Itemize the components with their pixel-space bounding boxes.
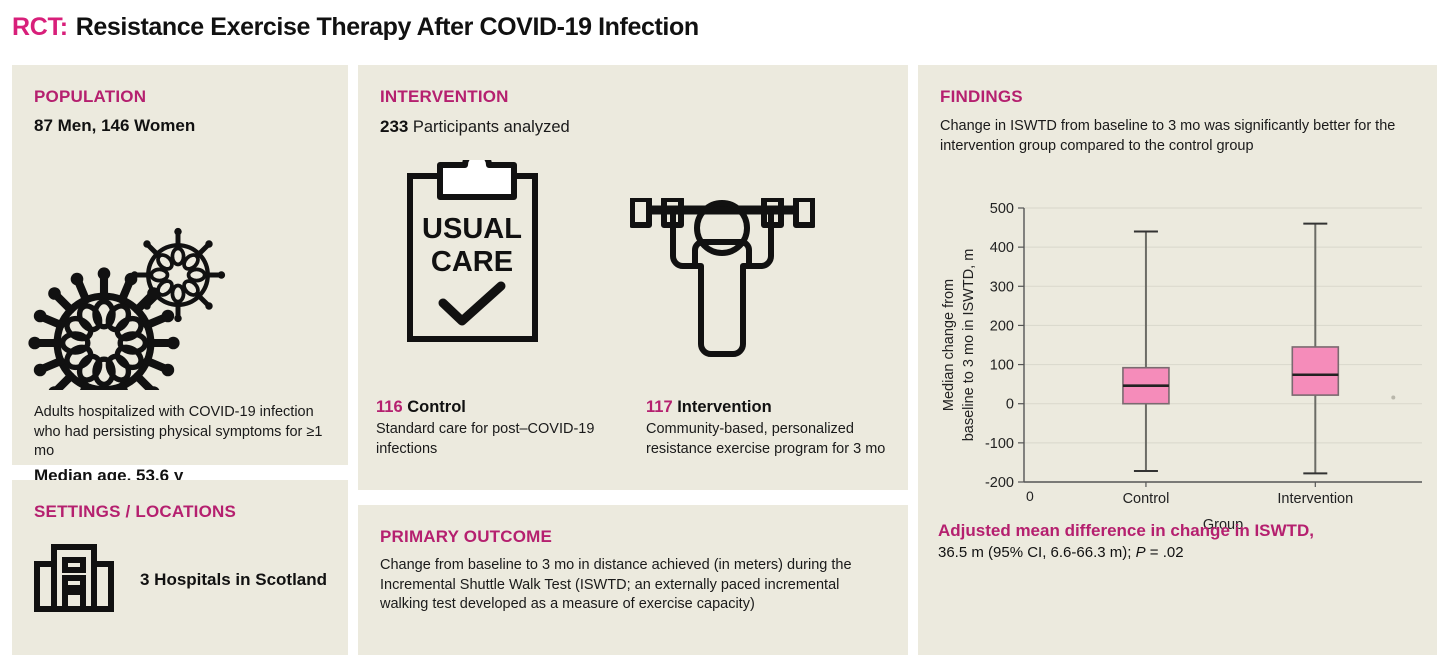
hospital-building-icon xyxy=(34,540,114,620)
page-header: RCT: Resistance Exercise Therapy After C… xyxy=(12,4,1432,50)
weightlifting-person-icon xyxy=(572,160,872,400)
participants-number: 233 xyxy=(380,117,408,136)
svg-text:USUAL: USUAL xyxy=(422,213,522,245)
x-tick-label: Control xyxy=(1123,491,1170,507)
primary-outcome-panel: PRIMARY OUTCOME Change from baseline to … xyxy=(358,505,908,655)
page-title: Resistance Exercise Therapy After COVID-… xyxy=(76,13,699,42)
clipboard-check-icon: USUAL CARE xyxy=(372,160,572,400)
intervention-heading: INTERVENTION xyxy=(380,87,886,107)
settings-panel: SETTINGS / LOCATIONS 3 Hospitals in Scot… xyxy=(12,480,348,655)
y-tick-label: 300 xyxy=(990,279,1014,295)
y-axis-title: baseline to 3 mo in ISWTD, m xyxy=(961,249,977,442)
findings-panel: FINDINGS Change in ISWTD from baseline t… xyxy=(918,65,1437,655)
participants-label: Participants analyzed xyxy=(413,118,570,136)
y-tick-label: 100 xyxy=(990,358,1014,374)
settings-row: 3 Hospitals in Scotland xyxy=(34,540,327,620)
y-tick-label: -100 xyxy=(985,436,1014,452)
study-type-tag: RCT: xyxy=(12,13,68,42)
findings-heading: FINDINGS xyxy=(940,87,1415,107)
result-p-value: = .02 xyxy=(1146,544,1184,561)
y-tick-label: 500 xyxy=(990,201,1014,217)
arm-control-description: Standard care for post–COVID-19 infectio… xyxy=(376,420,624,459)
result-heading: Adjusted mean difference in change in IS… xyxy=(938,520,1418,541)
coronavirus-icon xyxy=(26,175,236,390)
population-heading: POPULATION xyxy=(34,87,326,107)
primary-outcome-text: Change from baseline to 3 mo in distance… xyxy=(380,556,885,615)
y-tick-label: -200 xyxy=(985,475,1014,491)
result-value: 36.5 m (95% CI, 6.6-66.3 m); P = .02 xyxy=(938,544,1418,561)
arm-control-number: 116 xyxy=(376,398,403,416)
boxplot-control: Control xyxy=(1123,231,1170,507)
participants-line: 233 Participants analyzed xyxy=(380,116,886,138)
population-description: Adults hospitalized with COVID-19 infect… xyxy=(34,403,330,462)
settings-heading: SETTINGS / LOCATIONS xyxy=(34,502,326,522)
boxplot-svg: 5004003002001000-100-200Median change fr… xyxy=(932,190,1432,560)
y-axis-title: Median change from xyxy=(941,279,957,411)
population-panel: POPULATION 87 Men, 146 Women xyxy=(12,65,348,465)
result-value-text: 36.5 m (95% CI, 6.6-66.3 m); xyxy=(938,544,1136,561)
settings-label: 3 Hospitals in Scotland xyxy=(140,569,327,590)
y-tick-label: 200 xyxy=(990,318,1014,334)
intervention-icons: USUAL CARE xyxy=(372,160,892,400)
primary-outcome-heading: PRIMARY OUTCOME xyxy=(380,527,886,547)
x-origin-label: 0 xyxy=(1026,488,1034,504)
infographic-page: RCT: Resistance Exercise Therapy After C… xyxy=(0,0,1449,655)
population-counts: 87 Men, 146 Women xyxy=(34,116,326,136)
arm-control: 116 Control Standard care for post–COVID… xyxy=(376,398,624,459)
y-tick-label: 400 xyxy=(990,240,1014,256)
boxplot-intervention: Intervention xyxy=(1277,224,1395,507)
population-description-block: Adults hospitalized with COVID-19 infect… xyxy=(34,403,330,486)
findings-lead-text: Change in ISWTD from baseline to 3 mo wa… xyxy=(940,116,1410,156)
findings-result: Adjusted mean difference in change in IS… xyxy=(938,520,1418,561)
y-tick-label: 0 xyxy=(1006,397,1014,413)
x-tick-label: Intervention xyxy=(1277,491,1353,507)
arm-intervention-description: Community-based, personalized resistance… xyxy=(646,420,894,459)
svg-text:CARE: CARE xyxy=(430,246,512,278)
arm-intervention-heading: 117 Intervention xyxy=(646,398,894,417)
result-p-symbol: P xyxy=(1136,544,1146,561)
intervention-panel: INTERVENTION 233 Participants analyzed U… xyxy=(358,65,908,490)
arm-intervention: 117 Intervention Community-based, person… xyxy=(646,398,894,459)
arm-intervention-name: Intervention xyxy=(677,398,771,416)
arm-intervention-number: 117 xyxy=(646,398,673,416)
arm-control-heading: 116 Control xyxy=(376,398,624,417)
intervention-arms: 116 Control Standard care for post–COVID… xyxy=(376,398,896,459)
arm-control-name: Control xyxy=(407,398,466,416)
